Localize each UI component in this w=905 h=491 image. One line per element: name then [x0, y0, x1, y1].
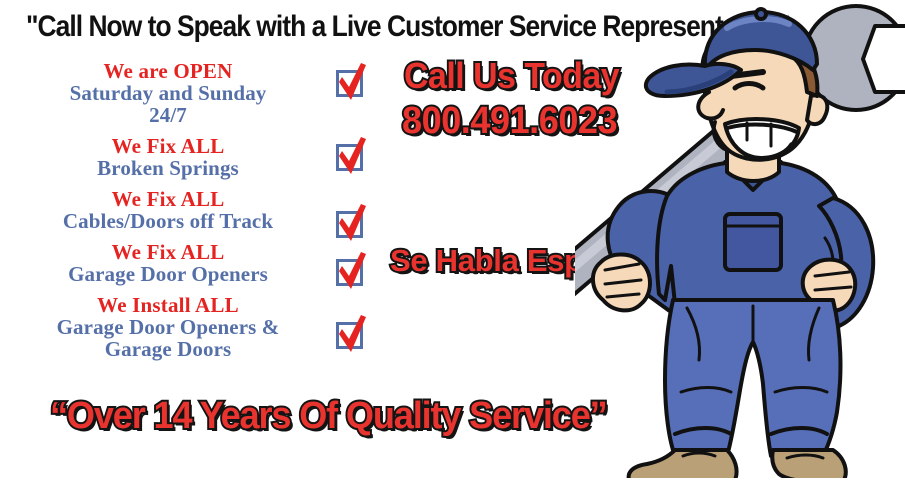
left-hand — [593, 255, 650, 311]
left-boot — [629, 450, 737, 478]
head — [646, 9, 827, 160]
right-boot — [772, 450, 846, 478]
service-detail: Garage Door Openers — [18, 263, 318, 285]
check-icon — [332, 136, 372, 176]
service-item: We Install ALLGarage Door Openers &Garag… — [18, 294, 318, 360]
repairman-mascot-illustration — [575, 0, 905, 478]
service-item: We are OPENSaturday and Sunday24/7 — [18, 60, 318, 126]
check-icon — [332, 62, 372, 102]
service-headline: We Install ALL — [18, 294, 318, 316]
garage-door-service-advertisement: "Call Now to Speak with a Live Customer … — [0, 0, 905, 491]
check-icon — [332, 251, 372, 291]
service-list: We are OPENSaturday and Sunday24/7We Fix… — [18, 60, 318, 369]
check-icon — [332, 203, 372, 243]
checkmark-openers-fix[interactable] — [332, 251, 372, 291]
service-item: We Fix ALLGarage Door Openers — [18, 241, 318, 285]
checkmark-cables-doors[interactable] — [332, 203, 372, 243]
service-detail: Saturday and Sunday — [18, 82, 318, 104]
checkmark-open-hours[interactable] — [332, 62, 372, 102]
shirt-pocket — [725, 214, 781, 270]
tagline-text: “Over 14 Years Of Quality Service” — [50, 394, 607, 438]
service-detail: 24/7 — [18, 104, 318, 126]
service-detail: Garage Door Openers & — [18, 316, 318, 338]
service-item: We Fix ALLBroken Springs — [18, 135, 318, 179]
service-detail: Garage Doors — [18, 338, 318, 360]
checkmark-install[interactable] — [332, 314, 372, 354]
service-headline: We Fix ALL — [18, 135, 318, 157]
service-headline: We Fix ALL — [18, 241, 318, 263]
repairman-icon — [575, 0, 905, 478]
service-detail: Cables/Doors off Track — [18, 210, 318, 232]
checkmark-springs[interactable] — [332, 136, 372, 176]
service-headline: We are OPEN — [18, 60, 318, 82]
service-detail: Broken Springs — [18, 157, 318, 179]
check-icon — [332, 314, 372, 354]
service-item: We Fix ALLCables/Doors off Track — [18, 188, 318, 232]
service-headline: We Fix ALL — [18, 188, 318, 210]
